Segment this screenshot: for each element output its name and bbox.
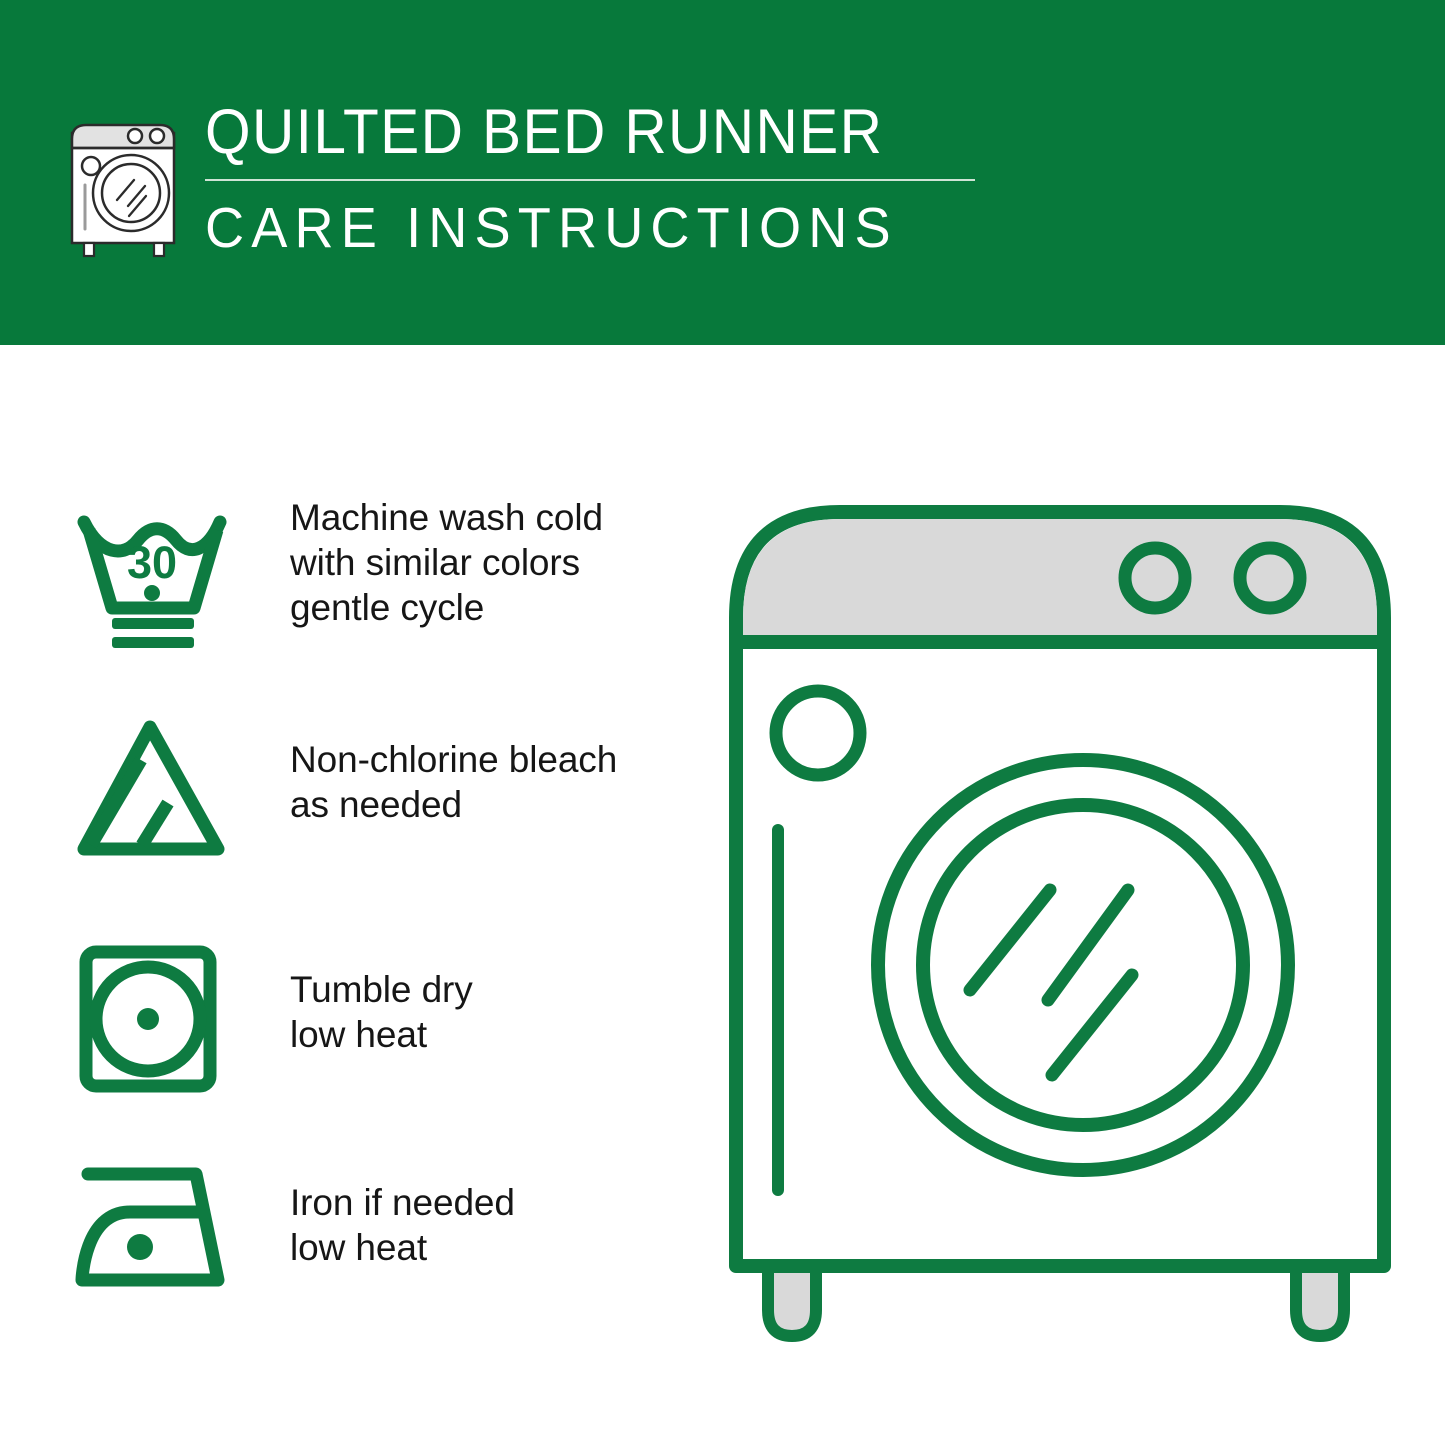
care-row-iron: Iron if needed low heat [0,1150,660,1350]
care-row-label: Machine wash cold with similar colors ge… [290,495,603,630]
tumble-dry-low-icon [72,940,232,1100]
wash-tub-30-icon: 30 [72,500,232,660]
washing-machine-icon [62,103,190,258]
header-text-block: QUILTED BED RUNNER CARE INSTRUCTIONS [205,96,995,261]
title-divider [205,179,975,181]
front-load-washing-machine-illustration [700,470,1420,1370]
page-subtitle: CARE INSTRUCTIONS [205,195,956,261]
care-row-machine-wash: 30 Machine wash cold with similar colors… [0,500,660,700]
header-banner: QUILTED BED RUNNER CARE INSTRUCTIONS [0,0,1445,345]
care-row-tumble-dry: Tumble dry low heat [0,940,660,1140]
care-row-bleach: Non-chlorine bleach as needed [0,715,660,915]
care-instruction-list: 30 Machine wash cold with similar colors… [0,345,660,1445]
iron-low-heat-icon [72,1150,232,1310]
care-row-label: Non-chlorine bleach as needed [290,737,617,827]
care-label-page: QUILTED BED RUNNER CARE INSTRUCTIONS 30 [0,0,1445,1445]
care-row-label: Tumble dry low heat [290,967,473,1057]
bleach-triangle-icon [72,715,232,875]
page-title: QUILTED BED RUNNER [205,96,940,168]
wash-temperature-value: 30 [127,537,177,588]
control-panel [743,519,1377,642]
care-row-label: Iron if needed low heat [290,1180,515,1270]
